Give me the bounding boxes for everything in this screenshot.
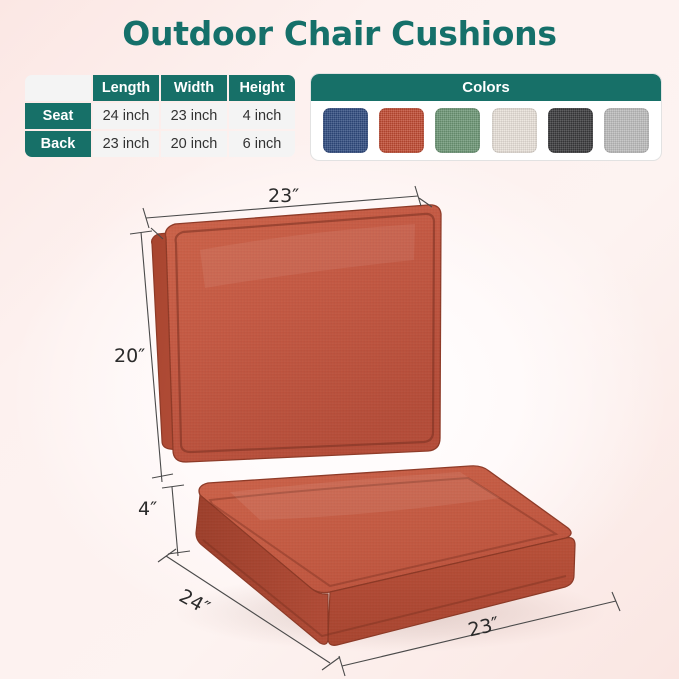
- product-illustration: [0, 0, 679, 679]
- dimtick-back-height-bottom: [152, 474, 173, 478]
- dimension-label-back-width: 23″: [268, 185, 299, 207]
- dimension-label-seat-thickness: 4″: [138, 498, 157, 520]
- back-cushion: [152, 205, 441, 462]
- dimtick-seat-thickness-top: [162, 485, 184, 488]
- dimtick-seat-depth-top: [158, 549, 176, 562]
- infographic-canvas: Outdoor Chair Cushions Length Width Heig…: [0, 0, 679, 679]
- dimension-label-back-height: 20″: [114, 345, 145, 367]
- dimline-seat-thickness: [172, 487, 178, 556]
